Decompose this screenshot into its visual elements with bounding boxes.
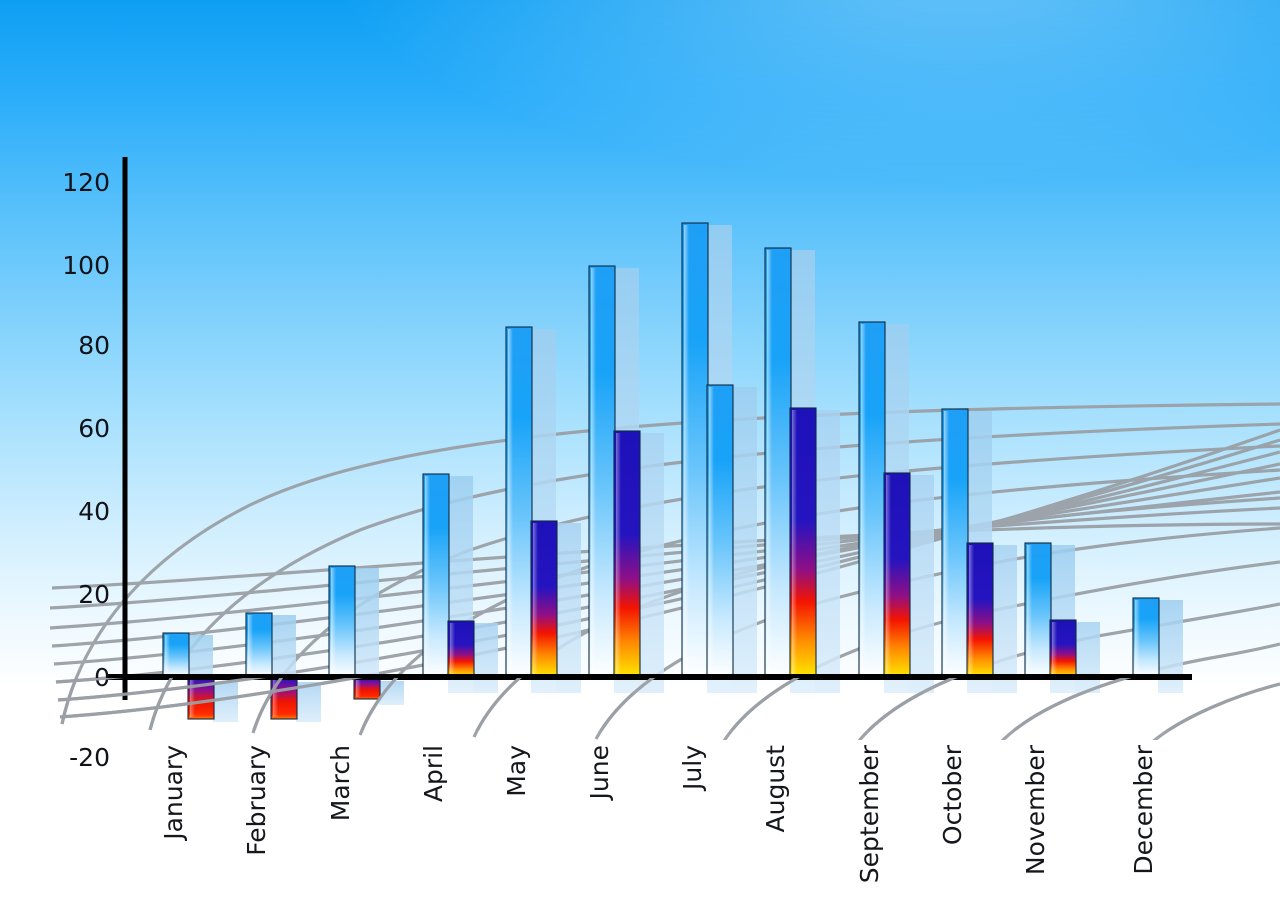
chart-canvas: 120 100 80 60 40 20 0 -20 January Februa… (0, 0, 1280, 905)
grid-lines-front (56, 404, 1280, 744)
perspective-grid-front (0, 0, 1280, 905)
